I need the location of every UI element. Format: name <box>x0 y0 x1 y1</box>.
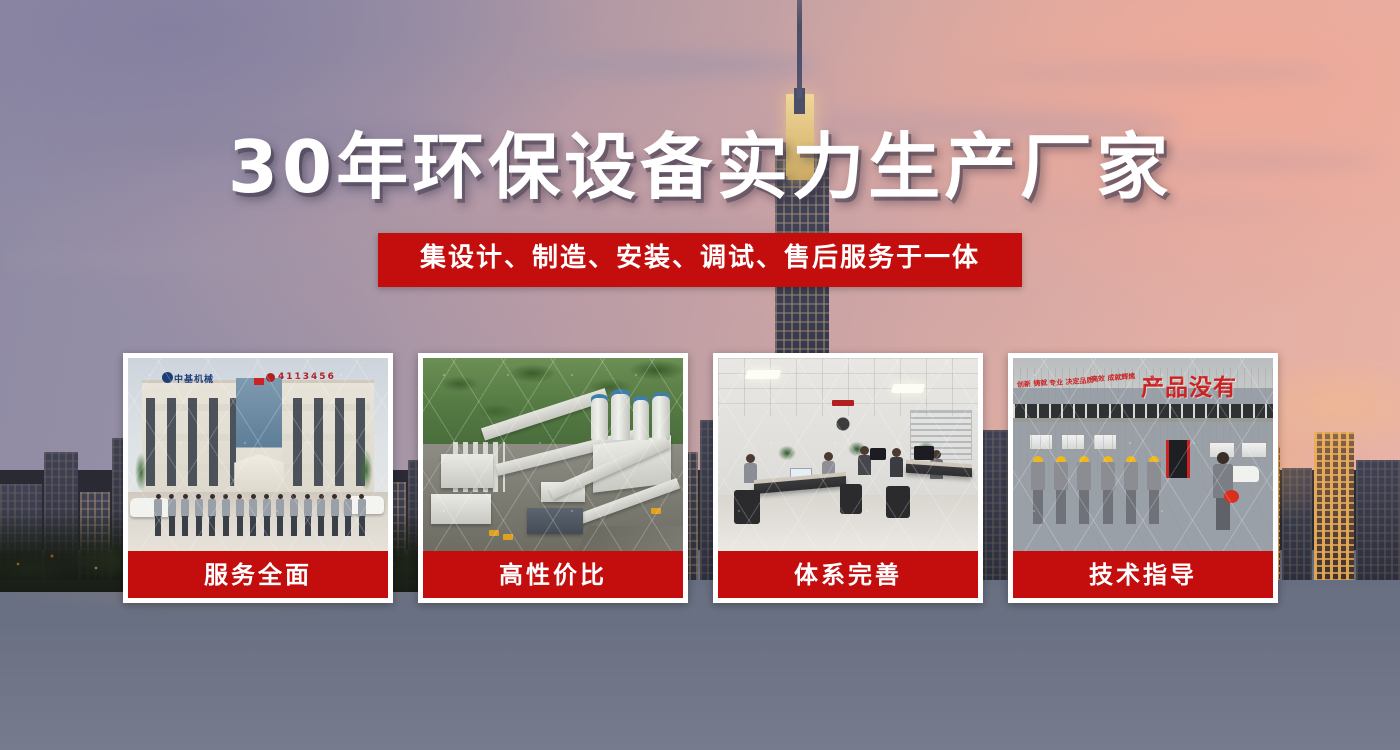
company-logo-icon <box>162 372 173 383</box>
building-sign-text: 中基机械 <box>174 372 214 385</box>
excavator <box>503 534 513 540</box>
warehouse-wall-text: 产品没有 <box>1141 368 1237 402</box>
chair <box>734 490 760 524</box>
ceiling-light <box>891 384 925 393</box>
phone-icon <box>266 373 275 382</box>
tower-antenna <box>797 0 802 98</box>
card-photo-industrial-plant <box>423 358 683 551</box>
factory-window <box>1241 442 1267 458</box>
subtitle-banner-wrap: 集设计、制造、安装、调试、售后服务于一体 <box>0 233 1400 287</box>
chair <box>886 486 910 518</box>
card-caption: 高性价比 <box>423 551 683 598</box>
card-photo-factory-training: 创新 铸就 专业 决定品质 高效 成就辉煌 产品没有 <box>1013 358 1273 551</box>
cloud <box>980 60 1340 86</box>
excavator <box>489 530 499 536</box>
card-photo-office-interior <box>718 358 978 551</box>
silo <box>652 396 670 440</box>
potted-plant <box>774 442 800 464</box>
card-caption: 技术指导 <box>1013 551 1273 598</box>
red-helmet <box>1224 490 1239 503</box>
monitor <box>914 446 934 460</box>
silo <box>633 400 649 440</box>
excavator <box>651 508 661 514</box>
feature-card[interactable]: 体系完善 <box>713 353 983 603</box>
page-title: 30年环保设备实力生产厂家 <box>0 131 1400 203</box>
silo <box>611 394 630 440</box>
subtitle-banner: 集设计、制造、安装、调试、售后服务于一体 <box>378 233 1022 287</box>
monitor <box>870 448 886 460</box>
silo <box>591 398 608 440</box>
card-caption: 体系完善 <box>718 551 978 598</box>
cloud <box>520 52 820 78</box>
worker-lineup <box>1031 456 1161 526</box>
plant-shed <box>527 508 583 534</box>
ceiling-light <box>745 370 782 379</box>
feature-card-list: 中基机械 4113456 <box>123 353 1278 603</box>
chair <box>840 484 862 514</box>
feature-card[interactable]: 创新 铸就 专业 决定品质 高效 成就辉煌 产品没有 <box>1008 353 1278 603</box>
card-caption: 服务全面 <box>128 551 388 598</box>
building-phone-text: 4113456 <box>278 372 336 382</box>
staff-lineup <box>154 494 366 538</box>
feature-card[interactable]: 中基机械 4113456 <box>123 353 393 603</box>
feature-card[interactable]: 高性价比 <box>418 353 688 603</box>
card-photo-headquarters: 中基机械 4113456 <box>128 358 388 551</box>
flag <box>254 378 264 385</box>
wall-decal <box>826 406 860 436</box>
hero-banner: 30年环保设备实力生产厂家 集设计、制造、安装、调试、售后服务于一体 中基机械 … <box>0 0 1400 750</box>
